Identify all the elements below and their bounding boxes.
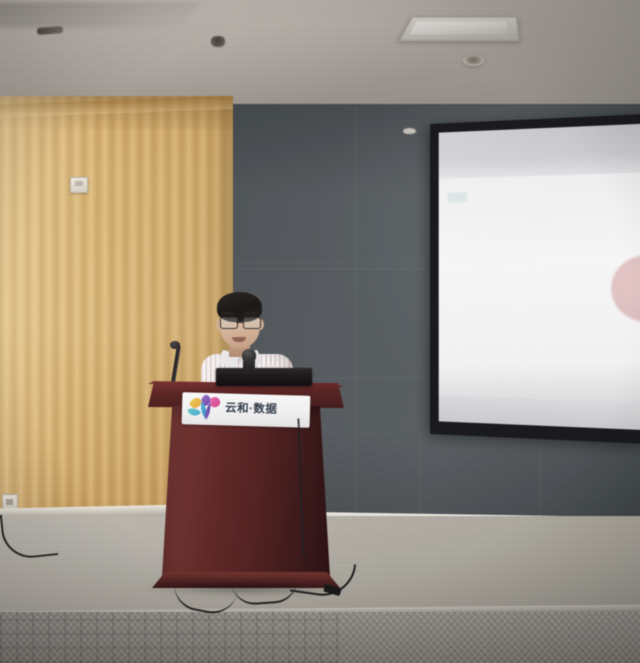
butterfly-logo-svg: [184, 392, 225, 428]
wall-seam: [540, 444, 541, 516]
glasses-lens-right: [243, 317, 261, 329]
projection-screen[interactable]: [430, 114, 640, 444]
speaker-eyebrow-right: [244, 312, 257, 315]
podium-monitor-icon[interactable]: [216, 368, 312, 386]
ceiling-speaker-icon: [211, 36, 225, 47]
gooseneck-microphone-head: [170, 341, 180, 349]
glasses-lens-left: [220, 317, 238, 329]
glasses-bridge: [236, 321, 243, 323]
podium-sign-text: 云和·数据: [224, 404, 278, 417]
screen-bottom-band: [439, 395, 640, 430]
projection-screen-surface: [439, 123, 640, 430]
wall-seam: [236, 262, 426, 263]
ceiling-seam: [0, 2, 200, 28]
screen-top-band: [439, 123, 640, 178]
slide-accent-circle: [611, 255, 640, 322]
podium-brand-sign: 云和·数据: [182, 392, 311, 428]
speaker-eyebrow-left: [221, 312, 234, 315]
glasses-icon: [219, 317, 261, 328]
wall-switch-plate-icon[interactable]: [70, 177, 88, 193]
wall-seam: [236, 268, 426, 269]
recessed-ceiling-light-icon: [398, 16, 521, 41]
presentation-photo: 云和·数据: [0, 0, 640, 663]
yunhe-data-butterfly-logo-icon: [182, 392, 225, 425]
screen-mount-hook-icon: [403, 128, 416, 134]
microphone-head: [242, 349, 256, 361]
wall-seam: [355, 108, 356, 514]
slide-tab-icon: [447, 193, 467, 204]
ceiling-downlight-icon: [463, 55, 484, 66]
wall-seam: [420, 436, 421, 516]
